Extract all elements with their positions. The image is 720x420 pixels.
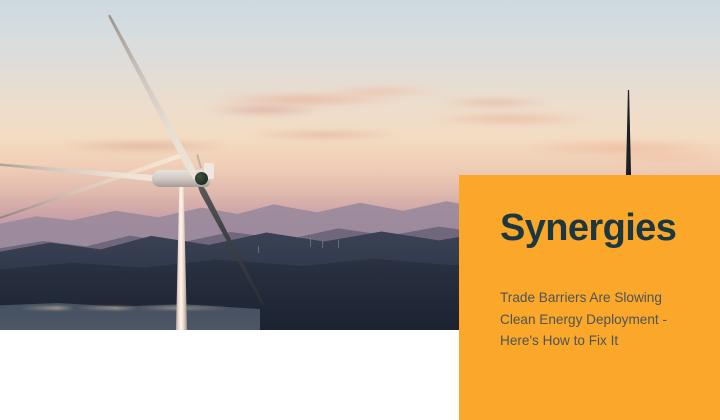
turbine-blade-icon xyxy=(193,179,269,308)
turbine-anemometer-rod xyxy=(196,154,202,168)
turbine-blade-icon xyxy=(103,12,204,186)
slide-canvas: TESS Forum on Trade, Environment, & the … xyxy=(0,0,720,420)
turbine-tower xyxy=(176,186,187,330)
title-panel: Synergies Trade Barriers Are Slowing Cle… xyxy=(459,175,720,420)
page-title: Synergies xyxy=(500,209,676,247)
turbine-hub xyxy=(195,172,208,185)
page-subtitle: Trade Barriers Are Slowing Clean Energy … xyxy=(500,287,695,352)
